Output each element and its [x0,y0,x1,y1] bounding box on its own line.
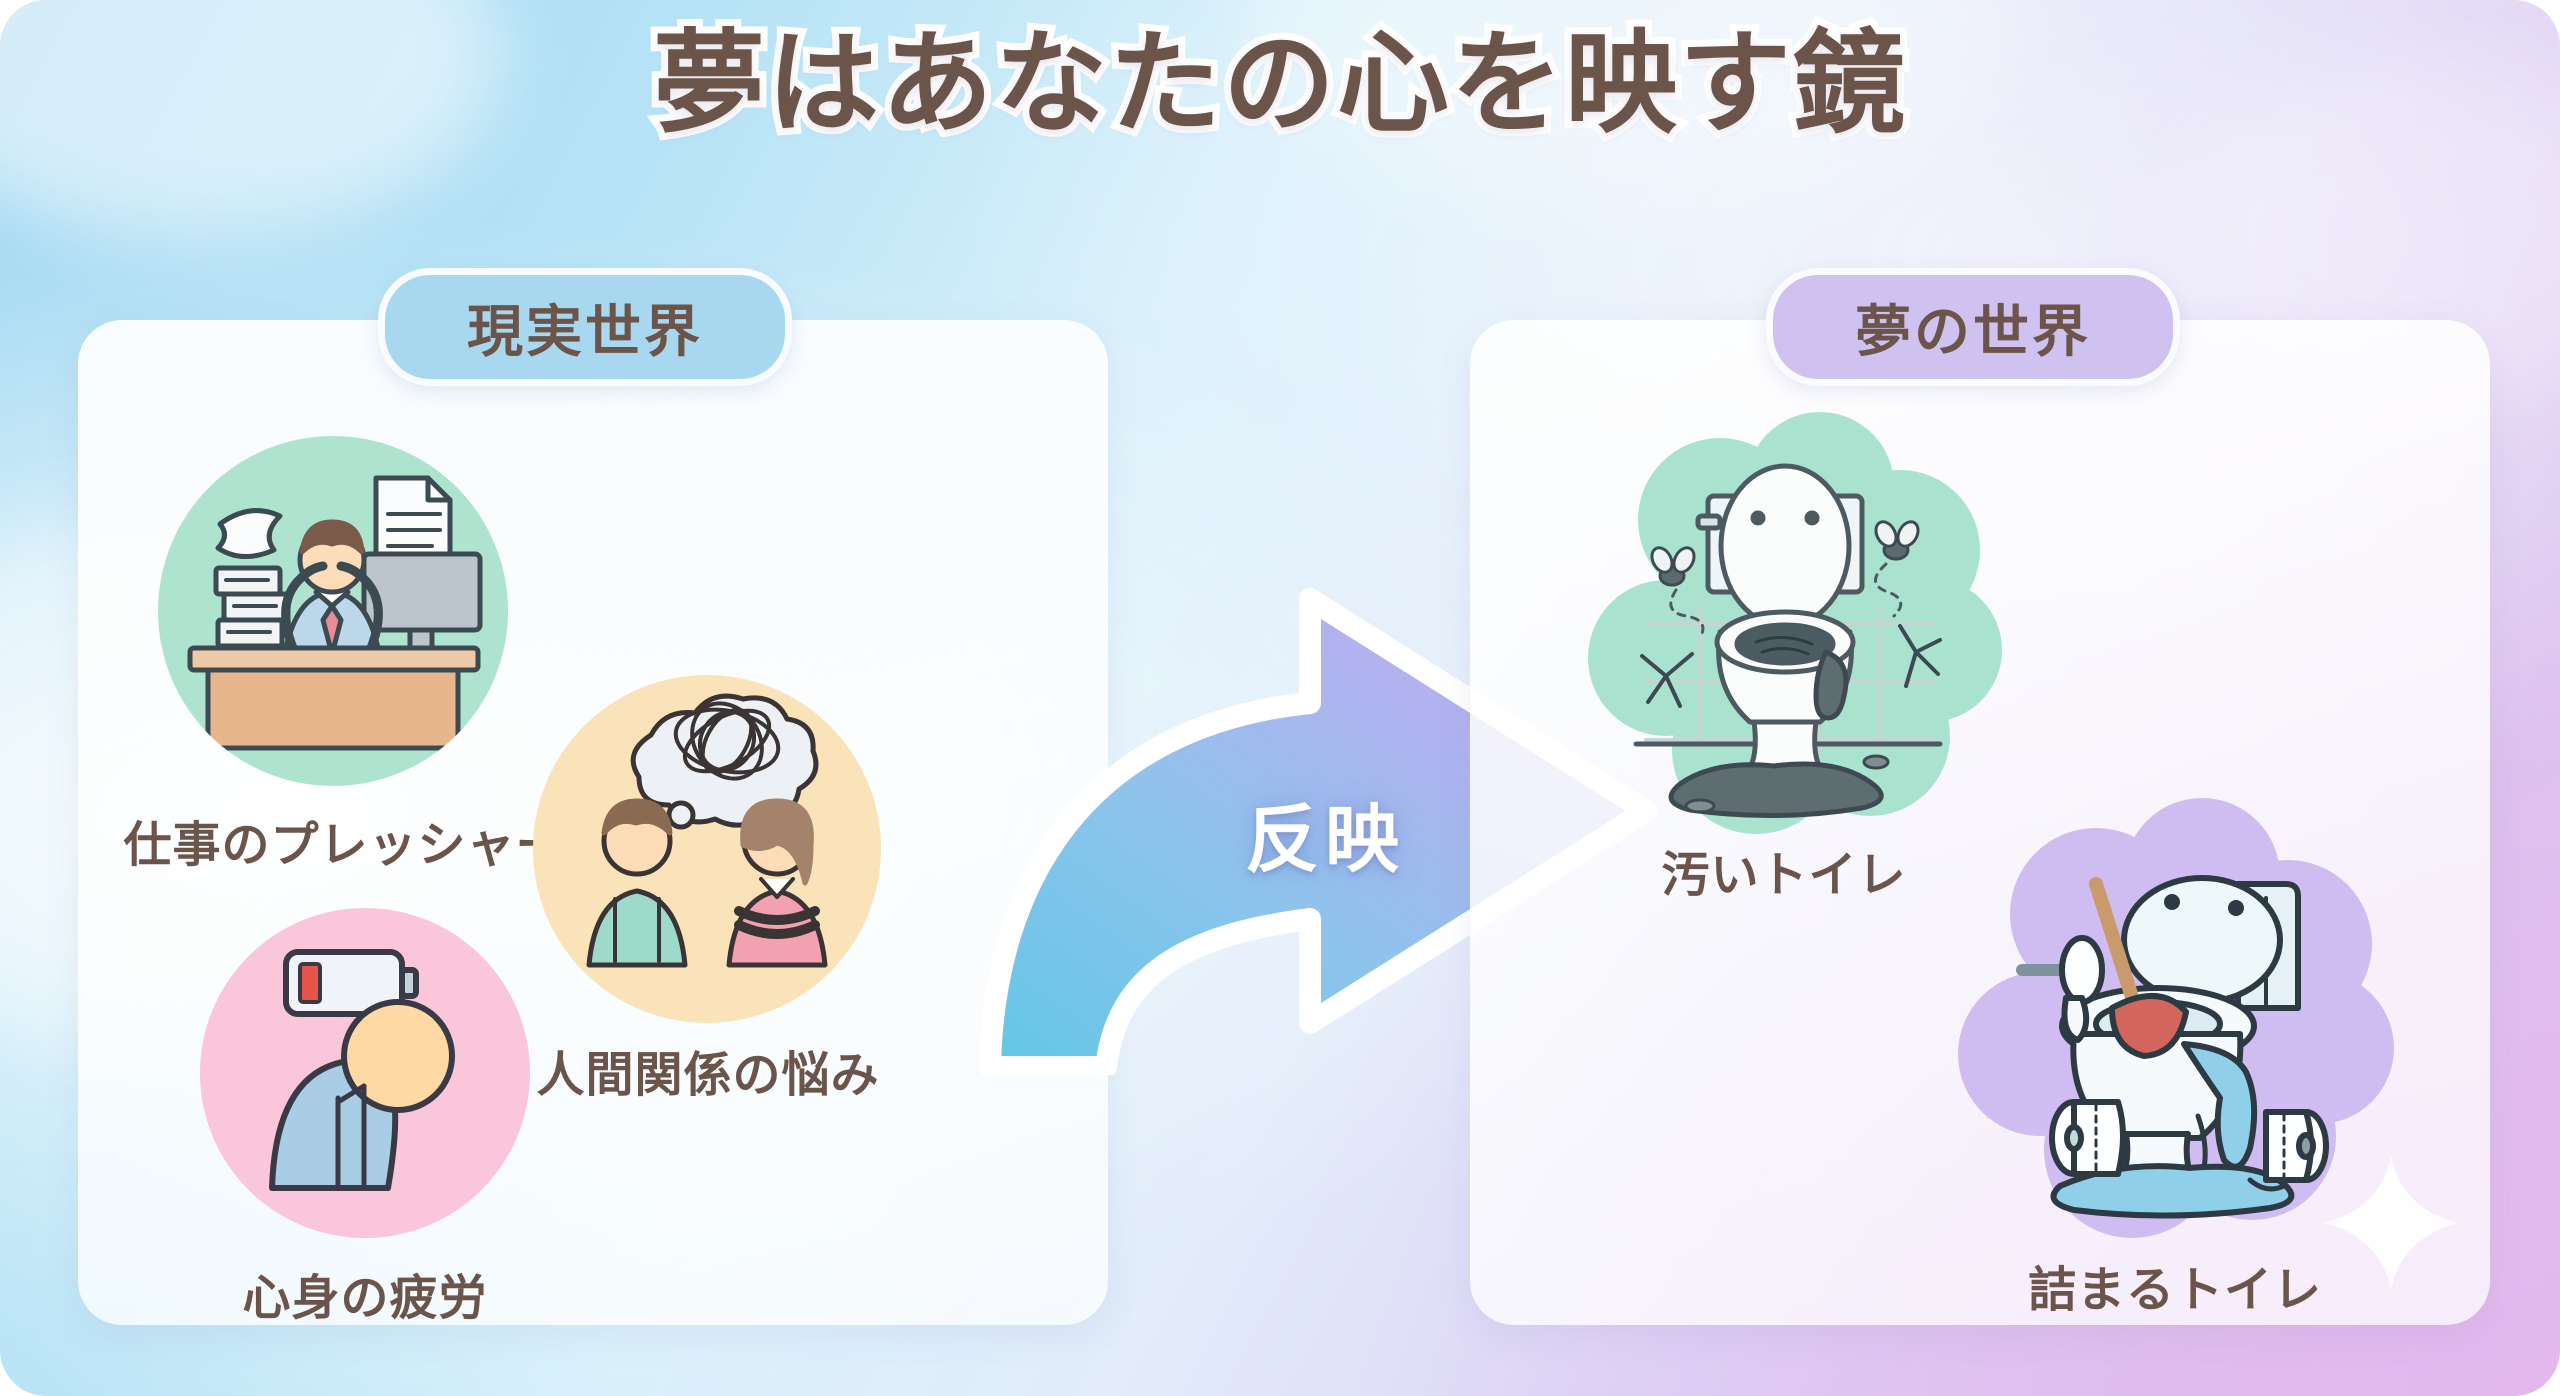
circle-work-stress [158,436,508,786]
badge-real-world: 現実世界 [378,268,792,386]
blob-dirty-toilet [1580,410,2000,830]
blob-clogged-toilet [1950,798,2390,1228]
circle-relationship-trouble [533,675,881,1023]
work-stress-icon [158,436,508,786]
panel-real-world: 現実世界 [78,320,1108,1325]
badge-dream-world: 夢の世界 [1766,268,2180,386]
panel-dream-world: 夢の世界 [1470,320,2490,1325]
clogged-toilet-icon [1950,798,2390,1228]
infographic-canvas: 夢はあなたの心を映す鏡 現実世界 [0,0,2560,1396]
dirty-toilet-icon [1580,410,2000,830]
relationship-trouble-icon [533,675,881,1023]
page-title: 夢はあなたの心を映す鏡 [0,20,2560,149]
circle-exhaustion [200,908,530,1238]
caption-clogged-toilet: 詰まるトイレ [1940,1250,2410,1320]
caption-exhaustion: 心身の疲労 [140,1258,590,1328]
caption-dirty-toilet: 汚いトイレ [1554,835,2014,905]
caption-relationship-trouble: 人間関係の悩み [458,1035,958,1105]
exhaustion-icon [200,908,530,1238]
